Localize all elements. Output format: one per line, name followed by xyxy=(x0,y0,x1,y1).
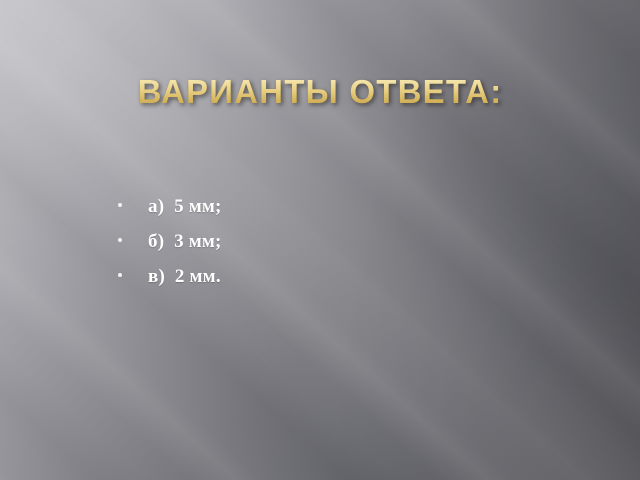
list-item-label: а) 5 мм; xyxy=(148,196,222,218)
list-item-label: в) 2 мм. xyxy=(148,266,221,288)
list-item: а) 5 мм; xyxy=(118,196,558,231)
list-item: б) 3 мм; xyxy=(118,231,558,266)
presentation-slide: Варианты ответа: а) 5 мм; б) 3 мм; в) 2 … xyxy=(0,0,640,480)
bullet-point-icon xyxy=(118,196,148,215)
slide-title: Варианты ответа: xyxy=(138,72,503,112)
content-placeholder: а) 5 мм; б) 3 мм; в) 2 мм. xyxy=(118,196,558,301)
title-placeholder: Варианты ответа: xyxy=(0,72,640,112)
list-item: в) 2 мм. xyxy=(118,266,558,301)
bullet-point-icon xyxy=(118,231,148,250)
bullet-point-icon xyxy=(118,266,148,285)
list-item-label: б) 3 мм; xyxy=(148,231,222,253)
